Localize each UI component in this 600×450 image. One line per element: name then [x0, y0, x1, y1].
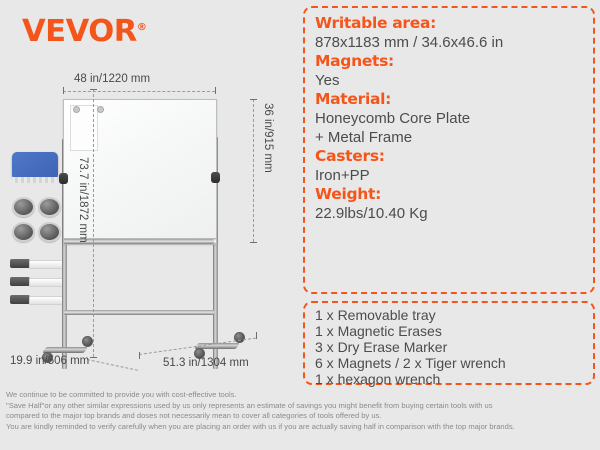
dimension-tick: [256, 332, 257, 339]
magnet-graphic: [12, 222, 35, 242]
spec-key-weight: Weight:: [315, 185, 583, 204]
package-content-item: 3 x Dry Erase Marker: [315, 339, 583, 355]
dimension-tick: [90, 89, 97, 90]
stand-crossbar-lower: [64, 310, 214, 315]
board-magnet-dot: [73, 106, 80, 113]
dimension-line-total-height: [93, 89, 94, 357]
magnet-graphic: [12, 197, 35, 217]
marker-cap: [10, 295, 30, 304]
package-content-item: 1 x Magnetic Erases: [315, 323, 583, 339]
spec-value-material-line1: Honeycomb Core Plate: [315, 109, 583, 128]
registered-trademark-icon: ®: [137, 22, 147, 33]
package-content-item: 1 x hexagon wrench: [315, 371, 583, 387]
dry-erase-marker-graphic: [10, 260, 66, 267]
caster-wheel: [82, 336, 93, 347]
dimension-label-board-height: 36 in/915 mm: [262, 103, 274, 173]
dimension-line-board-width: [63, 91, 215, 92]
spec-key-material: Material:: [315, 90, 583, 109]
disclaimer-line-3: compared to the major top brands and dos…: [6, 411, 596, 422]
package-content-item: 6 x Magnets / 2 x Tiger wrench: [315, 355, 583, 371]
dimension-tick: [250, 99, 257, 100]
marker-barrel: [29, 296, 65, 305]
dimension-label-board-width: 48 in/1220 mm: [74, 73, 150, 85]
marker-barrel: [29, 260, 65, 269]
disclaimer-line-1: We continue to be committed to provide y…: [6, 390, 596, 401]
dimension-label-total-height: 73.7 in/1872 mm: [77, 157, 89, 243]
dry-erase-marker-graphic: [10, 278, 66, 285]
disclaimer-line-4: You are kindly reminded to verify carefu…: [6, 422, 596, 433]
spec-key-writable-area: Writable area:: [315, 14, 583, 33]
disclaimer-line-2: "Save Half"or any other similar expressi…: [6, 401, 596, 412]
spec-value-casters: Iron+PP: [315, 166, 583, 185]
dimension-tick: [63, 87, 64, 94]
spec-value-magnets: Yes: [315, 71, 583, 90]
spec-value-material-line2: + Metal Frame: [315, 128, 583, 147]
board-magnet-dot: [97, 106, 104, 113]
magnet-graphic: [38, 197, 61, 217]
dimension-tick: [90, 357, 97, 358]
vevor-logo-text: VEVOR: [22, 14, 137, 49]
dimension-label-base-width: 51.3 in/1304 mm: [163, 357, 249, 369]
pivot-knob-right: [211, 172, 220, 183]
specifications-panel: Writable area: 878x1183 mm / 34.6x46.6 i…: [303, 6, 595, 294]
dimension-tick: [215, 87, 216, 94]
product-illustration: 48 in/1220 mm 36 in/915 mm 73.7 in/1872 …: [0, 55, 298, 385]
marker-barrel: [29, 278, 65, 287]
spec-key-casters: Casters:: [315, 147, 583, 166]
marker-cap: [10, 277, 30, 286]
magnetic-eraser-graphic: [12, 152, 58, 180]
dimension-line-board-height: [253, 99, 254, 242]
spec-value-weight: 22.9lbs/10.40 Kg: [315, 204, 583, 223]
spec-value-writable-area: 878x1183 mm / 34.6x46.6 in: [315, 33, 583, 52]
dry-erase-marker-graphic: [10, 296, 66, 303]
dimension-line-base-depth: [87, 359, 138, 371]
magnet-graphic: [38, 222, 61, 242]
vevor-logo: VEVOR®: [22, 14, 146, 49]
dimension-label-base-depth: 19.9 in/506 mm: [10, 355, 89, 367]
marker-cap: [10, 259, 30, 268]
spec-key-magnets: Magnets:: [315, 52, 583, 71]
package-content-item: 1 x Removable tray: [315, 307, 583, 323]
dimension-tick: [250, 242, 257, 243]
disclaimer-text: We continue to be committed to provide y…: [6, 390, 596, 432]
dimension-tick: [139, 352, 140, 359]
pivot-knob-left: [59, 173, 68, 184]
package-contents-panel: 1 x Removable tray 1 x Magnetic Erases 3…: [303, 301, 595, 385]
